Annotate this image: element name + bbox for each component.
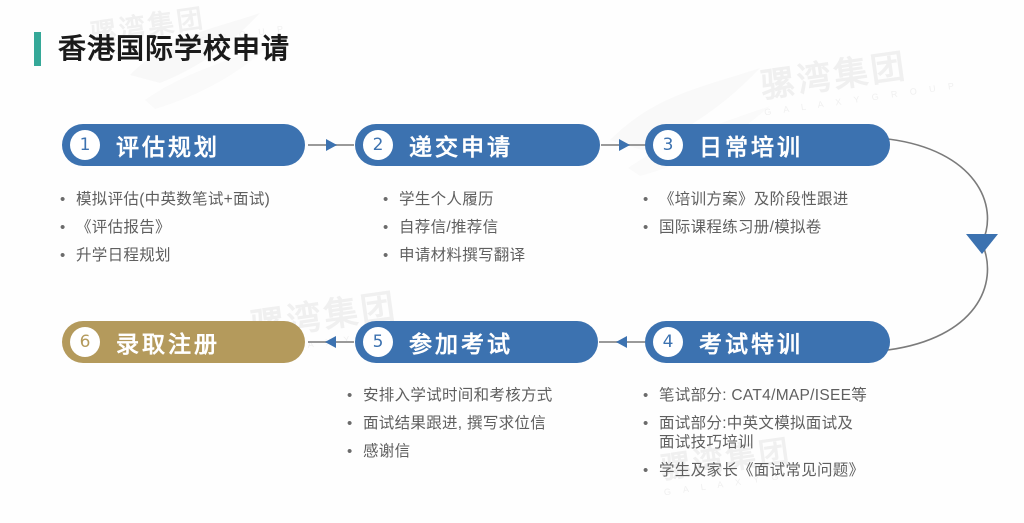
step-number-4: 4	[653, 327, 683, 357]
bullet-list-step-4: • 笔试部分: CAT4/MAP/ISEE等 • 面试部分:中英文模拟面试及 面…	[643, 386, 953, 489]
list-item: • 学生及家长《面试常见问题》	[643, 461, 953, 480]
list-item-text: 笔试部分: CAT4/MAP/ISEE等	[659, 386, 867, 405]
list-item: • 面试部分:中英文模拟面试及 面试技巧培训	[643, 414, 953, 452]
connector-step5-to-step6	[308, 335, 354, 349]
list-item: • 国际课程练习册/模拟卷	[643, 218, 943, 237]
title-accent-bar	[34, 32, 41, 66]
infographic-canvas: 骡湾集团 G A L A X Y G R O U P 骡湾集团 G A L A …	[0, 0, 1024, 523]
list-item-text: 自荐信/推荐信	[399, 218, 498, 237]
list-item-text: 学生及家长《面试常见问题》	[659, 461, 864, 480]
bullet-dot-icon: •	[60, 218, 76, 237]
bullet-list-step-2: • 学生个人履历 • 自荐信/推荐信 • 申请材料撰写翻译	[383, 190, 663, 274]
bullet-list-step-3: • 《培训方案》及阶段性跟进 • 国际课程练习册/模拟卷	[643, 190, 943, 246]
step-number-1: 1	[70, 130, 100, 160]
step-number-6: 6	[70, 327, 100, 357]
bullet-dot-icon: •	[347, 442, 363, 461]
watermark-top-right: 骡湾集团 G A L A X Y G R O U P	[757, 32, 960, 118]
list-item-text: 升学日程规划	[76, 246, 171, 265]
step-label-4: 考试特训	[699, 325, 803, 359]
connector-step1-to-step2	[308, 138, 354, 152]
list-item-text: 学生个人履历	[399, 190, 494, 209]
list-item: • 模拟评估(中英数笔试+面试)	[60, 190, 360, 209]
list-item-text: 国际课程练习册/模拟卷	[659, 218, 822, 237]
bullet-list-step-1: • 模拟评估(中英数笔试+面试) • 《评估报告》 • 升学日程规划	[60, 190, 360, 274]
list-item: • 升学日程规划	[60, 246, 360, 265]
list-item: • 《培训方案》及阶段性跟进	[643, 190, 943, 209]
bullet-list-step-5: • 安排入学试时间和考核方式 • 面试结果跟进, 撰写求位信 • 感谢信	[347, 386, 637, 470]
bullet-dot-icon: •	[60, 190, 76, 209]
step-number-5: 5	[363, 327, 393, 357]
step-pill-3[interactable]: 3 日常培训	[645, 124, 890, 166]
bullet-dot-icon: •	[643, 461, 659, 480]
step-label-1: 评估规划	[116, 128, 220, 162]
step-pill-2[interactable]: 2 递交申请	[355, 124, 600, 166]
arrow-left-icon	[325, 336, 336, 348]
step-label-6: 录取注册	[116, 325, 220, 359]
bullet-dot-icon: •	[643, 190, 659, 209]
step-number-2: 2	[363, 130, 393, 160]
step-pill-6[interactable]: 6 录取注册	[62, 321, 305, 363]
step-label-2: 递交申请	[409, 128, 513, 162]
arrow-right-icon	[619, 139, 630, 151]
title-text: 香港国际学校申请	[58, 35, 290, 63]
list-item-text: 安排入学试时间和考核方式	[363, 386, 553, 405]
bullet-dot-icon: •	[643, 386, 659, 405]
list-item-text: 《培训方案》及阶段性跟进	[659, 190, 849, 209]
arrow-right-icon	[326, 139, 337, 151]
list-item: • 《评估报告》	[60, 218, 360, 237]
connector-step4-to-step5	[599, 335, 645, 349]
step-label-5: 参加考试	[409, 325, 513, 359]
bullet-dot-icon: •	[643, 218, 659, 237]
list-item: • 面试结果跟进, 撰写求位信	[347, 414, 637, 433]
list-item: • 笔试部分: CAT4/MAP/ISEE等	[643, 386, 953, 405]
bullet-dot-icon: •	[60, 246, 76, 265]
list-item-text: 感谢信	[363, 442, 410, 461]
step-pill-1[interactable]: 1 评估规划	[62, 124, 305, 166]
bullet-dot-icon: •	[347, 386, 363, 405]
page-title: 香港国际学校申请	[34, 32, 290, 66]
list-item: • 自荐信/推荐信	[383, 218, 663, 237]
list-item: • 安排入学试时间和考核方式	[347, 386, 637, 405]
bullet-dot-icon: •	[383, 190, 399, 209]
bullet-dot-icon: •	[383, 218, 399, 237]
list-item-text: 申请材料撰写翻译	[399, 246, 525, 265]
list-item: • 学生个人履历	[383, 190, 663, 209]
step-label-3: 日常培训	[699, 128, 803, 162]
list-item-text: 面试结果跟进, 撰写求位信	[363, 414, 546, 433]
step-number-3: 3	[653, 130, 683, 160]
list-item: • 感谢信	[347, 442, 637, 461]
list-item-text: 模拟评估(中英数笔试+面试)	[76, 190, 270, 209]
step-pill-4[interactable]: 4 考试特训	[645, 321, 890, 363]
step-pill-5[interactable]: 5 参加考试	[355, 321, 598, 363]
bullet-dot-icon: •	[643, 414, 659, 433]
bullet-dot-icon: •	[383, 246, 399, 265]
arrow-left-icon	[616, 336, 627, 348]
connector-step2-to-step3	[601, 138, 647, 152]
list-item-text: 《评估报告》	[76, 218, 171, 237]
list-item-text: 面试部分:中英文模拟面试及 面试技巧培训	[659, 414, 853, 452]
list-item: • 申请材料撰写翻译	[383, 246, 663, 265]
bullet-dot-icon: •	[347, 414, 363, 433]
